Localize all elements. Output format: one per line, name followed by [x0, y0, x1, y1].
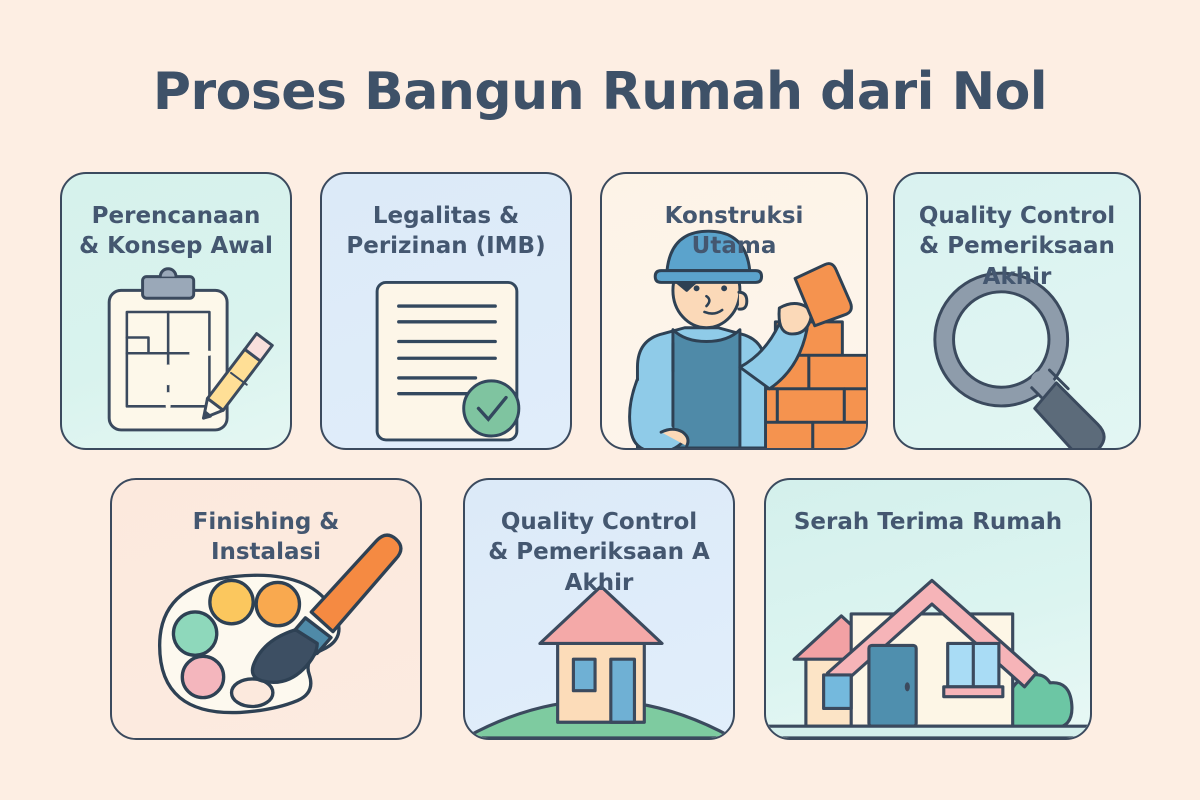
card-finishing[interactable]: Finishing & Instalasi [110, 478, 422, 740]
card-konstruksi[interactable]: Konstruksi Utama [600, 172, 868, 450]
card-quality-control[interactable]: Quality Control & Pemeriksaan Akhir [893, 172, 1141, 450]
infographic-page: Proses Bangun Rumah dari Nol Perencanaan… [0, 0, 1200, 800]
card-label-line: & Pemeriksaan A [475, 537, 723, 567]
card-legalitas[interactable]: Legalitas & Perizinan (IMB) [320, 172, 572, 450]
card-quality-control-2[interactable]: Quality Control & Pemeriksaan A Akhir [463, 478, 735, 740]
card-label-line: Quality Control [905, 201, 1129, 231]
card-label-konstruksi: Konstruksi Utama [602, 201, 866, 262]
card-label-quality-control-2: Quality Control & Pemeriksaan A Akhir [465, 507, 733, 598]
card-label-line: Akhir [475, 568, 723, 598]
card-label-line: Akhir [905, 262, 1129, 292]
card-perencanaan[interactable]: Perencanaan & Konsep Awal [60, 172, 292, 450]
card-label-legalitas: Legalitas & Perizinan (IMB) [322, 201, 570, 262]
card-label-line: Finishing & [122, 507, 410, 537]
card-label-line: & Konsep Awal [72, 231, 280, 261]
card-label-serah-terima: Serah Terima Rumah [766, 507, 1090, 537]
card-label-line: & Pemeriksaan [905, 231, 1129, 261]
card-label-line: Konstruksi [612, 201, 856, 231]
card-label-line: Quality Control [475, 507, 723, 537]
card-label-quality-control: Quality Control & Pemeriksaan Akhir [895, 201, 1139, 292]
card-label-line: Perizinan (IMB) [332, 231, 560, 261]
card-label-line: Utama [612, 231, 856, 261]
card-label-line: Perencanaan [72, 201, 280, 231]
card-label-line: Serah Terima Rumah [776, 507, 1080, 537]
card-label-line: Instalasi [122, 537, 410, 567]
card-label-line: Legalitas & [332, 201, 560, 231]
card-serah-terima[interactable]: Serah Terima Rumah [764, 478, 1092, 740]
card-label-finishing: Finishing & Instalasi [112, 507, 420, 568]
page-title: Proses Bangun Rumah dari Nol [0, 62, 1200, 122]
card-label-perencanaan: Perencanaan & Konsep Awal [62, 201, 290, 262]
